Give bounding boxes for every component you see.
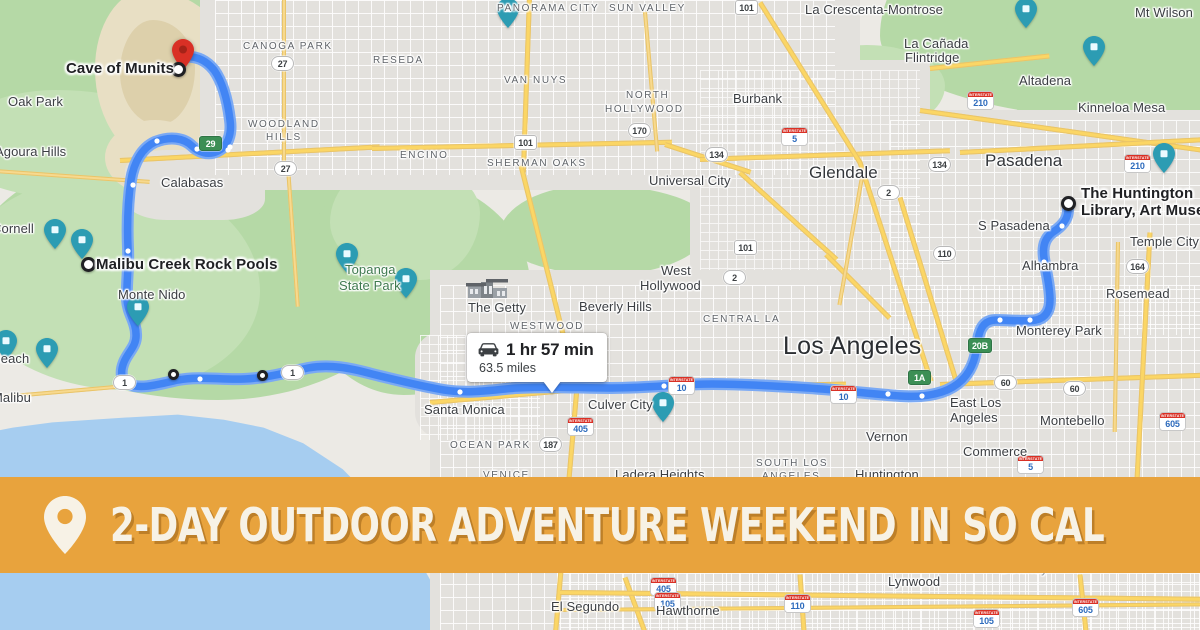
shield-134-west: 134	[705, 147, 728, 162]
shield-170: 170	[628, 123, 651, 138]
route-distance: 63.5 miles	[478, 361, 594, 375]
route-waypoint-dot-1	[168, 369, 179, 380]
shield-i110-bottom: INTERSTATE110	[785, 595, 810, 612]
shield-110: 110	[933, 246, 956, 261]
shield-hwy-1-east: 1	[281, 365, 304, 380]
shield-i210-west: INTERSTATE210	[968, 92, 993, 109]
shield-i210-east: INTERSTATE210	[1125, 155, 1150, 172]
poi-pin-icon[interactable]	[1083, 36, 1105, 66]
poi-pin-icon[interactable]	[497, 0, 519, 28]
shield-134-east: 134	[928, 157, 951, 172]
shield-187: 187	[539, 437, 562, 452]
poi-pin-icon[interactable]	[652, 392, 674, 422]
route-duration: 1 hr 57 min	[506, 340, 594, 360]
route-waypoint-dot-2	[257, 370, 268, 381]
shield-60-east: 60	[1063, 381, 1086, 396]
shield-exit-1a: 1A	[908, 370, 931, 385]
poi-pin-icon[interactable]	[1015, 0, 1037, 28]
poi-pin-icon[interactable]	[0, 330, 17, 360]
poi-pin-icon[interactable]	[1153, 143, 1175, 173]
shield-101-valley: 101	[514, 135, 537, 150]
shield-2-hollywood: 2	[723, 270, 746, 285]
shield-27-south: 27	[274, 161, 297, 176]
poi-pin-icon[interactable]	[44, 219, 66, 249]
location-pin-icon	[44, 496, 86, 554]
shield-i5-south: INTERSTATE5	[1018, 456, 1043, 473]
shield-i605: INTERSTATE605	[1160, 413, 1185, 430]
shield-i105: INTERSTATE105	[655, 593, 680, 610]
shield-2-glendale: 2	[877, 185, 900, 200]
poi-pin-icon[interactable]	[71, 229, 93, 259]
shield-i605-bottom: INTERSTATE605	[1073, 599, 1098, 616]
shield-i5-north: INTERSTATE5	[782, 128, 807, 145]
bubble-tail	[543, 381, 561, 393]
museum-building-icon	[466, 276, 510, 300]
shield-60-west: 60	[994, 375, 1017, 390]
map-screenshot: 27 27 29 1 1 101 101 101 170 134 134 2 2…	[0, 0, 1200, 630]
highway-27-north	[282, 0, 286, 172]
title-banner: 2-Day Outdoor Adventure Weekend in So Ca…	[0, 477, 1200, 573]
shield-i405: INTERSTATE405	[568, 418, 593, 435]
poi-pin-icon[interactable]	[336, 243, 358, 273]
shield-i10-east: INTERSTATE10	[831, 386, 856, 403]
shield-hwy-1-west: 1	[113, 375, 136, 390]
destination-marker-cave-of-munits[interactable]	[171, 62, 186, 77]
destination-marker-huntington[interactable]	[1061, 196, 1076, 211]
shield-i105-east: INTERSTATE105	[974, 610, 999, 627]
shield-exit-20b: 20B	[968, 338, 992, 353]
poi-pin-icon[interactable]	[395, 268, 417, 298]
shield-27-north: 27	[271, 56, 294, 71]
banner-title-text: 2-Day Outdoor Adventure Weekend in So Ca…	[110, 498, 1104, 552]
shield-101-top: 101	[735, 0, 758, 15]
car-icon	[478, 343, 499, 357]
destination-marker-malibu-creek-rock-pools[interactable]	[81, 257, 96, 272]
poi-pin-icon[interactable]	[127, 296, 149, 326]
shield-exit-29: 29	[199, 136, 222, 151]
shield-101-downtown: 101	[734, 240, 757, 255]
poi-pin-icon[interactable]	[36, 338, 58, 368]
shield-164: 164	[1126, 259, 1149, 274]
route-info-bubble[interactable]: 1 hr 57 min 63.5 miles	[467, 333, 607, 382]
